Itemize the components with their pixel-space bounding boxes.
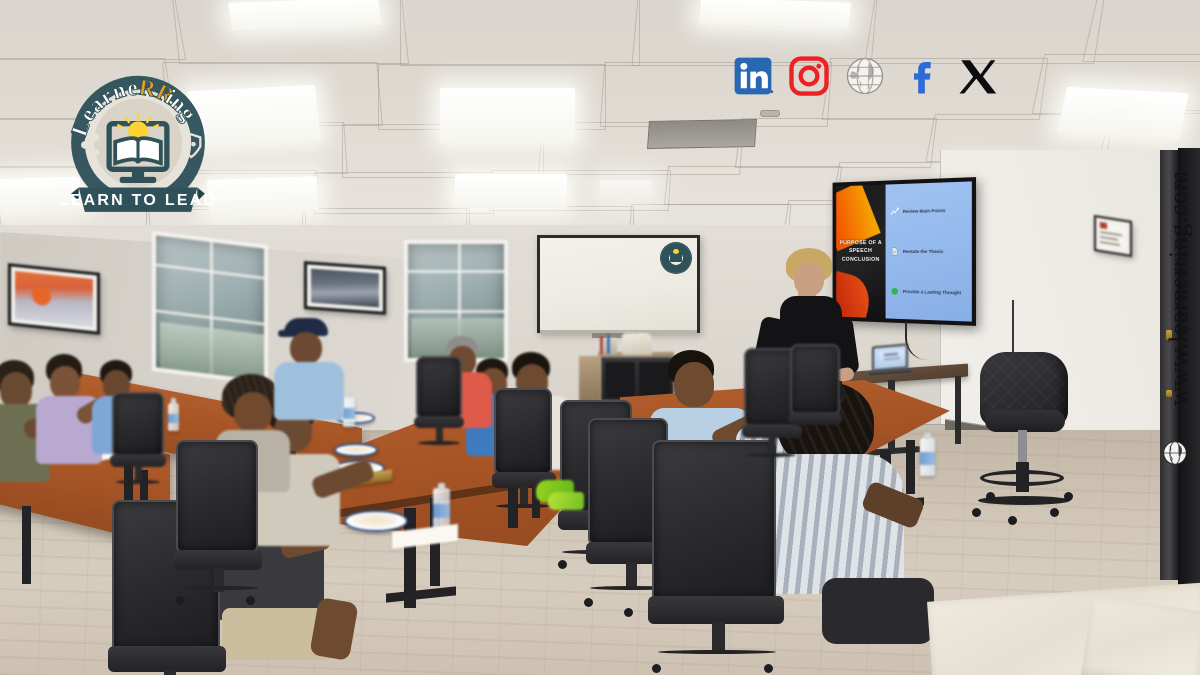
framed-photo-osprey (304, 261, 386, 315)
interior-window (152, 231, 268, 385)
globe-icon (1162, 440, 1188, 466)
x-twitter-icon[interactable] (956, 55, 998, 97)
slide-item-label: Restate the Thesis (903, 249, 943, 254)
supply-cup (604, 338, 617, 354)
framed-certificate (1094, 215, 1132, 257)
table-leg (22, 506, 31, 584)
supply-markers (600, 336, 603, 354)
slide-item-label: Review Main Points (903, 208, 946, 214)
paper-plate (334, 443, 378, 457)
helicopter-art (15, 271, 93, 327)
ceiling-light (1057, 87, 1189, 139)
classroom-photo: PURPOSE OF A SPEECH CONCLUSION Review Ma… (0, 0, 1200, 675)
slide-item-label: Provide a Lasting Thought (903, 289, 961, 295)
ceiling-light (600, 180, 652, 198)
slide-title: PURPOSE OF A SPEECH CONCLUSION (839, 239, 882, 264)
instagram-icon[interactable] (788, 55, 830, 97)
ceiling-light (455, 174, 567, 208)
water-bottle (343, 397, 355, 427)
sneaker (548, 492, 584, 510)
website-url: www.learnerring.com (1164, 170, 1194, 406)
logo-tagline: LEARN TO LEAD (62, 192, 214, 209)
water-bottle (920, 438, 935, 476)
green-dot-icon (890, 287, 899, 296)
learnerring-logo: Learne RR ing (62, 72, 214, 224)
ceiling-light (440, 88, 575, 143)
slide-bullet-panel: Review Main Points Restate the Thesis Pr… (885, 181, 971, 321)
whiteboard (537, 235, 700, 333)
ceiling-vent (647, 119, 757, 149)
globe-icon[interactable] (844, 55, 886, 97)
slide-item: Review Main Points (890, 205, 966, 216)
water-bottle (168, 403, 179, 431)
side-shelf (579, 356, 601, 402)
presentation-tv[interactable]: PURPOSE OF A SPEECH CONCLUSION Review Ma… (833, 177, 976, 326)
supply-bag (622, 333, 652, 355)
slide-item: Restate the Thesis (890, 247, 966, 256)
facebook-icon[interactable] (900, 55, 942, 97)
linkedin-icon[interactable] (732, 55, 774, 97)
supply-markers (607, 334, 610, 354)
desk-leg (955, 376, 961, 444)
ceiling-light (228, 0, 382, 31)
certificate-art (1100, 222, 1126, 250)
water-bottle (433, 488, 450, 530)
chart-line-icon (890, 207, 899, 216)
slide-item: Provide a Lasting Thought (890, 287, 966, 298)
ceiling-light (207, 176, 319, 214)
slide-title-panel: PURPOSE OF A SPEECH CONCLUSION (836, 185, 885, 319)
whiteboard-seal-icon (661, 243, 691, 273)
osprey-art (311, 269, 379, 308)
framed-photo-helicopter (8, 263, 100, 335)
paper-plate (344, 510, 408, 532)
table-cloth-fold (1081, 596, 1200, 675)
table-leg (906, 440, 915, 494)
social-icons-row[interactable] (732, 55, 998, 97)
document-icon (890, 247, 899, 256)
smoke-detector-icon (760, 110, 780, 117)
